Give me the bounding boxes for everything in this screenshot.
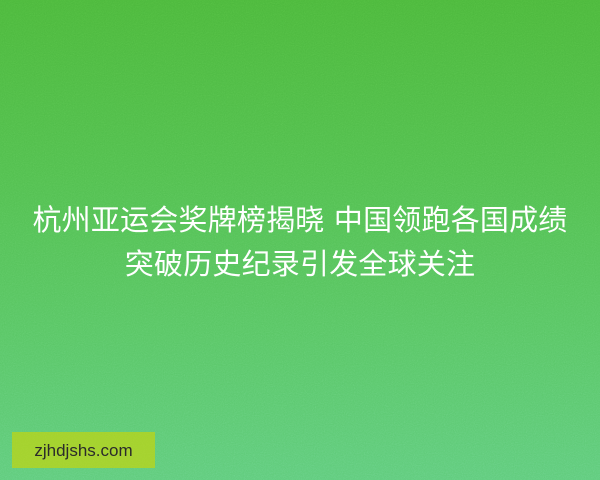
watermark-badge: zjhdjshs.com: [12, 432, 155, 468]
image-canvas: 杭州亚运会奖牌榜揭晓 中国领跑各国成绩 突破历史纪录引发全球关注 zjhdjsh…: [0, 0, 600, 480]
watermark-site-label: zjhdjshs.com: [34, 442, 132, 459]
headline-block: 杭州亚运会奖牌榜揭晓 中国领跑各国成绩 突破历史纪录引发全球关注: [0, 198, 600, 286]
page-title: 杭州亚运会奖牌榜揭晓 中国领跑各国成绩 突破历史纪录引发全球关注: [28, 198, 572, 286]
